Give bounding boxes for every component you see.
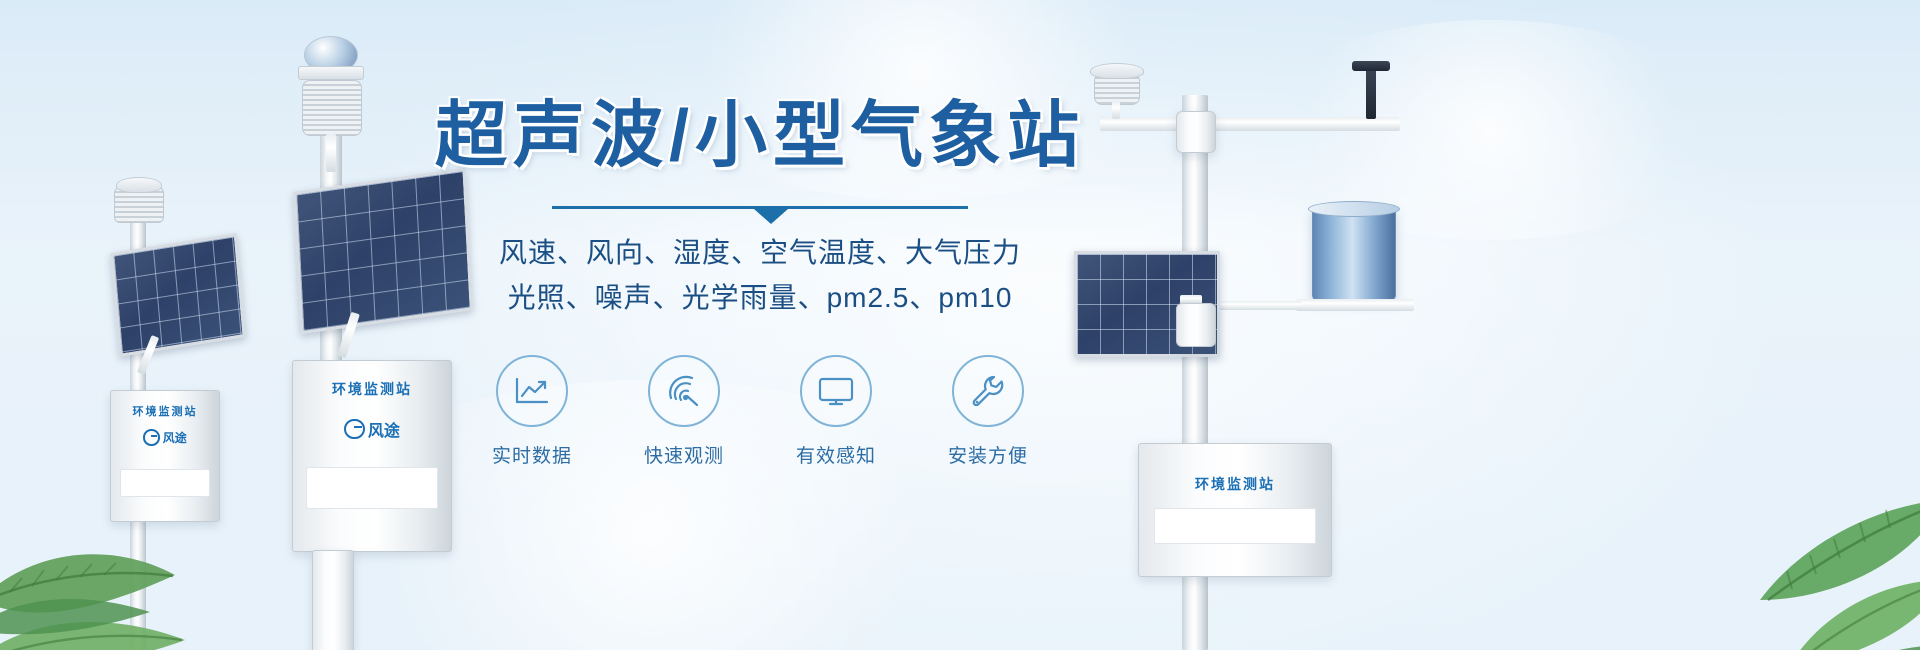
feature-label: 快速观测 <box>629 441 739 468</box>
weather-station-left: 环境监测站 风途 <box>108 175 288 650</box>
banner-content: 超声波/小型气象站 风速、风向、湿度、空气温度、大气压力 光照、噪声、光学雨量、… <box>430 100 1090 490</box>
cross-arm <box>1100 117 1400 131</box>
page-title: 超声波/小型气象站 <box>430 100 1090 172</box>
radiation-shield <box>302 80 362 136</box>
dome-cap <box>298 66 364 80</box>
wind-vane <box>1366 65 1376 119</box>
enclosure-panel-strip <box>1154 508 1315 544</box>
weather-station-right: 环境监测站 <box>1060 55 1480 650</box>
subtitle-block: 风速、风向、湿度、空气温度、大气压力 光照、噪声、光学雨量、pm2.5、pm10 <box>430 230 1090 321</box>
feature-item-realtime-data[interactable]: 实时数据 <box>477 355 587 468</box>
line-chart-icon <box>496 355 568 427</box>
product-banner: 环境监测站 风途 环境监测站 风途 <box>0 0 1920 650</box>
feature-item-easy-install[interactable]: 安装方便 <box>933 355 1043 468</box>
enclosure-label: 环境监测站 <box>1139 474 1331 494</box>
title-divider <box>552 202 968 216</box>
feature-label: 安装方便 <box>933 441 1043 468</box>
brand-name: 风途 <box>163 429 187 446</box>
down-triangle-icon <box>754 209 788 224</box>
subtitle-line-1: 风速、风向、湿度、空气温度、大气压力 <box>430 230 1090 275</box>
feature-item-effective-sensing[interactable]: 有效感知 <box>781 355 891 468</box>
rain-gauge-rim <box>1308 201 1400 217</box>
solar-cells <box>113 237 242 354</box>
enclosure-panel-strip <box>306 467 439 509</box>
enclosure-label: 环境监测站 <box>293 379 451 399</box>
brand-mark-icon <box>143 429 160 446</box>
shield-cap <box>116 177 162 193</box>
brand-logo: 风途 <box>293 417 451 441</box>
brand-name: 风途 <box>368 417 400 441</box>
feature-label: 有效感知 <box>781 441 891 468</box>
pole-collar <box>1176 111 1216 153</box>
feature-label: 实时数据 <box>477 441 587 468</box>
feature-item-fast-observation[interactable]: 快速观测 <box>629 355 739 468</box>
sensor-stem <box>1112 101 1120 119</box>
shelf-arm <box>1208 301 1302 310</box>
sensor-cap <box>1090 63 1144 79</box>
pole-collar <box>1176 303 1216 347</box>
control-enclosure: 环境监测站 <box>1138 443 1332 577</box>
subtitle-line-2: 光照、噪声、光学雨量、pm2.5、pm10 <box>430 275 1090 320</box>
vane-fin <box>1352 61 1390 71</box>
leaf-decoration-right <box>1640 450 1920 650</box>
wrench-icon <box>952 355 1024 427</box>
rain-gauge <box>1312 207 1396 301</box>
solar-panel <box>110 233 246 357</box>
brand-mark-icon <box>344 419 365 440</box>
enclosure-label: 环境监测站 <box>111 403 219 419</box>
pole-base <box>312 550 354 650</box>
shield-stem <box>326 134 336 172</box>
feature-list: 实时数据 快速观测 <box>430 355 1090 468</box>
radar-signal-icon <box>648 355 720 427</box>
gauge-shelf <box>1296 299 1414 311</box>
control-enclosure: 环境监测站 风途 <box>292 360 452 552</box>
control-enclosure: 环境监测站 风途 <box>110 390 220 522</box>
enclosure-panel-strip <box>120 469 211 497</box>
brand-logo: 风途 <box>111 429 219 446</box>
monitor-icon <box>800 355 872 427</box>
